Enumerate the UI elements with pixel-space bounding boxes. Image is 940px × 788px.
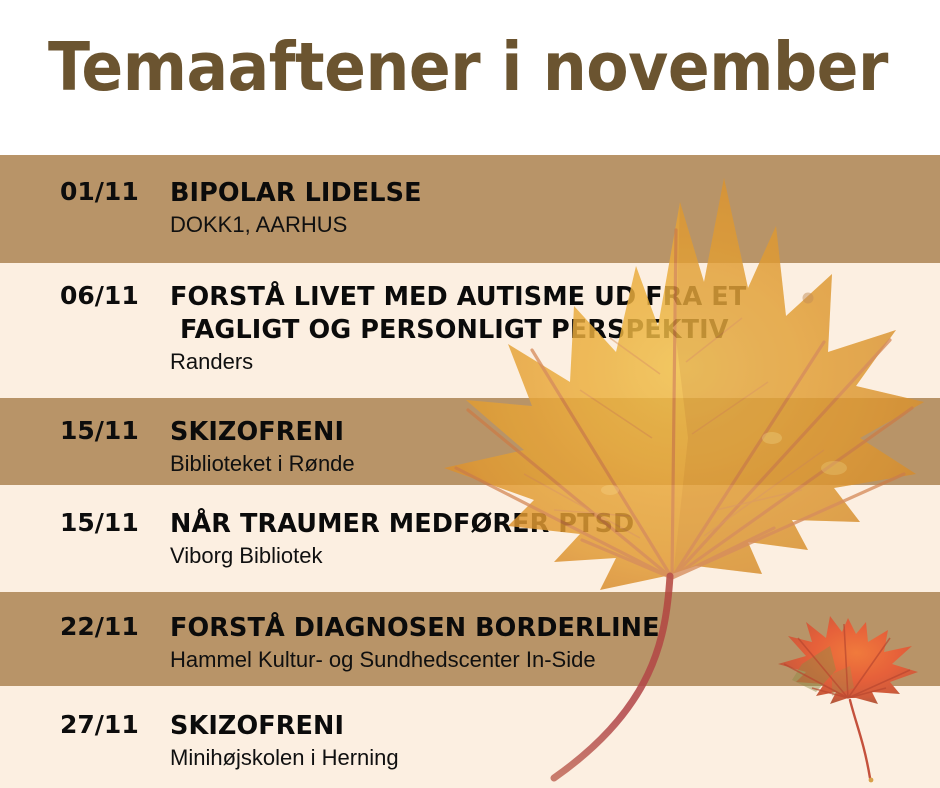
event-date: 06/11 [0, 281, 170, 311]
event-body: FORSTÅ LIVET MED AUTISME UD FRA ET FAGLI… [170, 281, 940, 377]
schedule-row[interactable]: 22/11 FORSTÅ DIAGNOSEN BORDERLINE Hammel… [0, 592, 940, 686]
event-venue: Hammel Kultur- og Sundhedscenter In-Side [170, 645, 926, 675]
schedule-row[interactable]: 01/11 BIPOLAR LIDELSE DOKK1, AARHUS [0, 155, 940, 263]
event-date: 15/11 [0, 416, 170, 446]
schedule-list: 01/11 BIPOLAR LIDELSE DOKK1, AARHUS 06/1… [0, 155, 940, 788]
event-date: 22/11 [0, 612, 170, 642]
schedule-row[interactable]: 15/11 NÅR TRAUMER MEDFØRER PTSD Viborg B… [0, 485, 940, 592]
event-body: SKIZOFRENI Biblioteket i Rønde [170, 416, 940, 479]
event-date: 27/11 [0, 710, 170, 740]
schedule-row[interactable]: 27/11 SKIZOFRENI Minihøjskolen i Herning [0, 686, 940, 788]
event-venue: Minihøjskolen i Herning [170, 743, 926, 773]
event-body: NÅR TRAUMER MEDFØRER PTSD Viborg Bibliot… [170, 508, 940, 571]
poster-canvas: Temaaftener i november 01/11 BIPOLAR LID… [0, 0, 940, 788]
event-body: SKIZOFRENI Minihøjskolen i Herning [170, 710, 940, 773]
event-body: BIPOLAR LIDELSE DOKK1, AARHUS [170, 177, 940, 240]
schedule-row[interactable]: 15/11 SKIZOFRENI Biblioteket i Rønde [0, 398, 940, 485]
event-title-line2: FAGLIGT OG PERSONLIGT PERSPEKTIV [170, 314, 926, 347]
event-body: FORSTÅ DIAGNOSEN BORDERLINE Hammel Kultu… [170, 612, 940, 675]
event-date: 01/11 [0, 177, 170, 207]
event-title: SKIZOFRENI [170, 416, 926, 449]
event-date: 15/11 [0, 508, 170, 538]
event-title: NÅR TRAUMER MEDFØRER PTSD [170, 508, 926, 541]
event-venue: Biblioteket i Rønde [170, 449, 926, 479]
page-title: Temaaftener i november [48, 28, 888, 106]
schedule-row[interactable]: 06/11 FORSTÅ LIVET MED AUTISME UD FRA ET… [0, 263, 940, 398]
event-title: FORSTÅ DIAGNOSEN BORDERLINE [170, 612, 926, 645]
event-title: FORSTÅ LIVET MED AUTISME UD FRA ET [170, 281, 926, 314]
event-venue: DOKK1, AARHUS [170, 210, 926, 240]
event-title: SKIZOFRENI [170, 710, 926, 743]
poster-header: Temaaftener i november [0, 0, 940, 155]
event-venue: Viborg Bibliotek [170, 541, 926, 571]
event-venue: Randers [170, 347, 926, 377]
event-title: BIPOLAR LIDELSE [170, 177, 926, 210]
